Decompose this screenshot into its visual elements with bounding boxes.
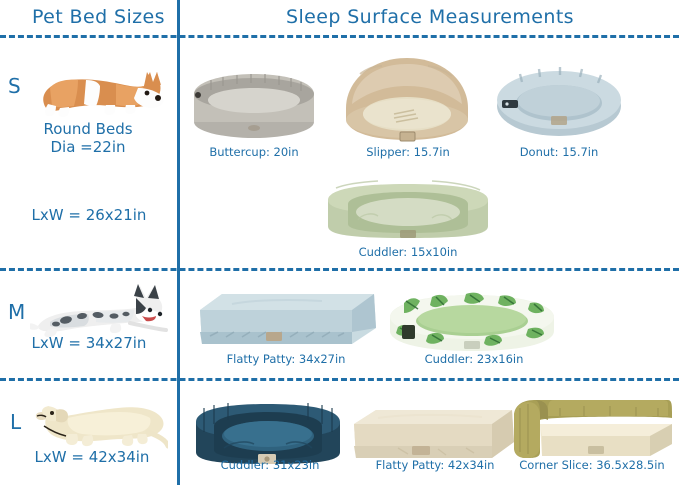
product-label-corner-slice: Corner Slice: 36.5x28.5in xyxy=(504,458,679,472)
product-label-donut: Donut: 15.7in xyxy=(492,145,626,159)
page-title-left: Pet Bed Sizes xyxy=(32,6,165,28)
product-label-flatty-patty-m: Flatty Patty: 34x27in xyxy=(196,352,376,366)
dog-illustration-labrador xyxy=(28,390,168,450)
product-image-cuddler-s xyxy=(322,170,494,242)
product-label-slipper: Slipper: 15.7in xyxy=(340,145,476,159)
product-image-donut xyxy=(494,60,624,140)
page-title-right: Sleep Surface Measurements xyxy=(286,6,574,28)
product-label-cuddler-s: Cuddler: 15x10in xyxy=(318,245,498,259)
size-letter-m: M xyxy=(8,300,25,324)
product-label-cuddler-m: Cuddler: 23x16in xyxy=(394,352,554,366)
product-image-flatty-patty-m xyxy=(192,288,382,352)
product-image-cuddler-m xyxy=(382,283,562,355)
row-s-lxw: LxW = 26x21in xyxy=(8,206,170,224)
row-divider-s-m xyxy=(0,268,679,271)
product-image-cuddler-l xyxy=(190,394,346,466)
size-letter-l: L xyxy=(10,410,21,434)
product-image-buttercup xyxy=(189,60,319,140)
product-image-corner-slice xyxy=(510,394,674,464)
product-image-slipper xyxy=(342,52,472,144)
product-label-cuddler-l: Cuddler: 31x23in xyxy=(196,458,344,472)
product-label-buttercup: Buttercup: 20in xyxy=(184,145,324,159)
row-m-lxw: LxW = 34x27in xyxy=(8,334,170,352)
product-image-flatty-patty-l xyxy=(348,404,518,466)
row-s-dim-line-1: Round Beds xyxy=(18,120,158,138)
column-divider xyxy=(177,0,180,485)
dog-illustration-corgi xyxy=(26,58,166,120)
row-l-lxw: LxW = 42x34in xyxy=(8,448,176,466)
product-label-flatty-patty-l: Flatty Patty: 42x34in xyxy=(350,458,520,472)
header-divider-rule xyxy=(0,35,679,38)
row-s-dim-line-2: Dia =22in xyxy=(18,138,158,156)
size-letter-s: S xyxy=(8,74,21,98)
dog-illustration-border-collie xyxy=(30,280,170,340)
row-divider-m-l xyxy=(0,378,679,381)
